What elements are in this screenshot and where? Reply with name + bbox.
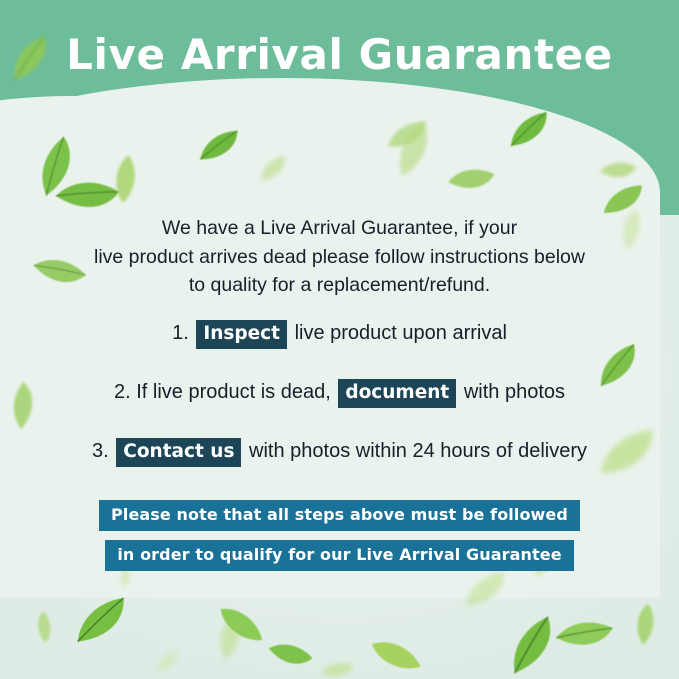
footer-notes: Please note that all steps above must be… — [0, 500, 679, 571]
step-highlight-inspect[interactable]: Inspect — [196, 320, 287, 349]
step-text: with photos within 24 hours of delivery — [249, 440, 587, 462]
step-number: 3. — [92, 440, 109, 462]
step-highlight-contact-us[interactable]: Contact us — [116, 438, 241, 467]
steps-list: 1. Inspect live product upon arrival 2. … — [0, 320, 679, 497]
step-number: 1. — [172, 322, 189, 344]
note-line-2: in order to qualify for our Live Arrival… — [105, 540, 573, 571]
step-text-before: If live product is dead, — [136, 381, 331, 403]
step-item-3: 3. Contact us with photos within 24 hour… — [0, 438, 679, 467]
page-title: Live Arrival Guarantee — [0, 30, 679, 79]
live-arrival-guarantee-card: Live Arrival Guarantee — [0, 0, 679, 679]
note-line-1: Please note that all steps above must be… — [99, 500, 580, 531]
content-area: We have a Live Arrival Guarantee, if you… — [0, 0, 679, 679]
intro-line-2: live product arrives dead please follow … — [60, 243, 619, 272]
intro-line-1: We have a Live Arrival Guarantee, if you… — [60, 214, 619, 243]
step-item-2: 2. If live product is dead, document wit… — [0, 379, 679, 408]
step-number: 2. — [114, 381, 131, 403]
intro-line-3: to quality for a replacement/refund. — [60, 271, 619, 300]
step-text: with photos — [464, 381, 565, 403]
step-text: live product upon arrival — [295, 322, 507, 344]
step-item-1: 1. Inspect live product upon arrival — [0, 320, 679, 349]
step-highlight-document[interactable]: document — [338, 379, 456, 408]
intro-paragraph: We have a Live Arrival Guarantee, if you… — [60, 214, 619, 300]
